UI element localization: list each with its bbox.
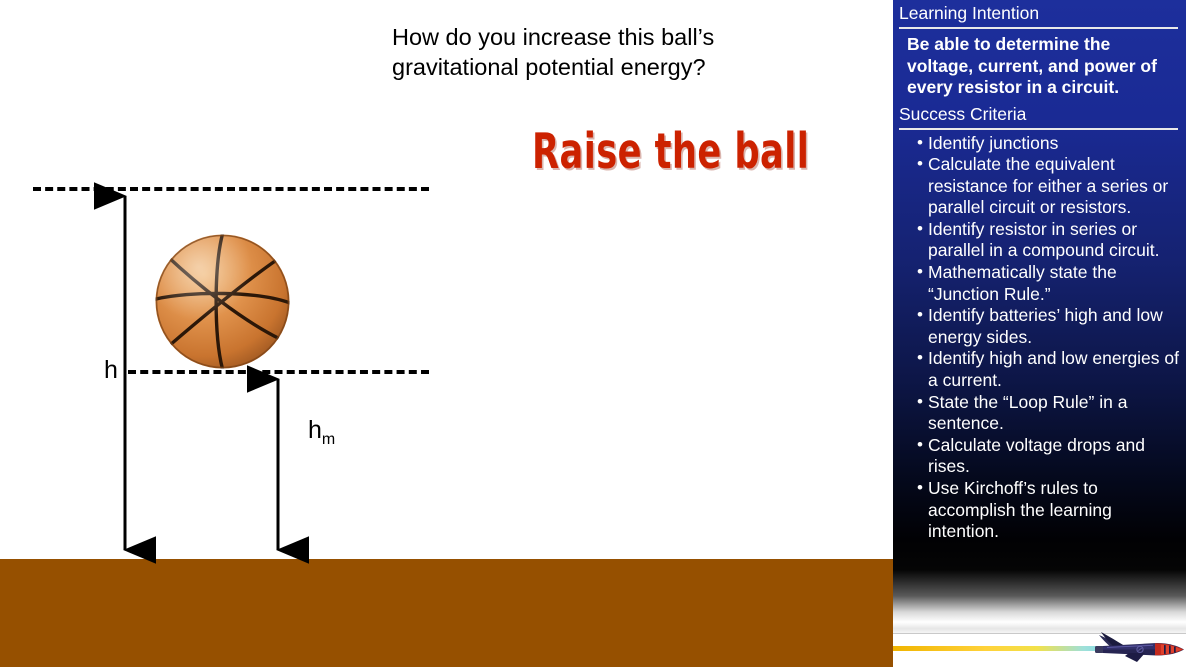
footer-decoration [893, 622, 1186, 667]
ground-surface-sliver [886, 559, 893, 667]
height-label-hm-subscript: m [322, 431, 335, 448]
list-item: Mathematically state the “Junction Rule.… [919, 262, 1180, 305]
dashed-line-middle [128, 370, 429, 374]
divider-learning-intention [899, 27, 1178, 29]
list-item: Identify junctions [919, 133, 1180, 155]
success-criteria-list: Identify junctions Calculate the equival… [893, 133, 1186, 543]
ground-surface [0, 559, 886, 667]
height-label-hm: hm [308, 418, 335, 452]
height-label-h: h [104, 358, 118, 383]
learning-intention-heading: Learning Intention [893, 0, 1186, 26]
dashed-line-top [33, 187, 429, 191]
list-item: Calculate the equivalent resistance for … [919, 154, 1180, 219]
divider-success-criteria [899, 128, 1178, 130]
success-criteria-heading: Success Criteria [893, 99, 1186, 127]
answer-headline: Raise the ball [532, 123, 809, 180]
learning-panel: Learning Intention Be able to determine … [893, 0, 1186, 622]
learning-intention-text: Be able to determine the voltage, curren… [893, 32, 1186, 99]
list-item: State the “Loop Rule” in a sentence. [919, 392, 1180, 435]
basketball-icon [154, 233, 291, 370]
list-item: Calculate voltage drops and rises. [919, 435, 1180, 478]
list-item: Identify resistor in series or parallel … [919, 219, 1180, 262]
slide-canvas: How do you increase this ball’s gravitat… [0, 0, 886, 667]
list-item: Identify high and low energies of a curr… [919, 348, 1180, 391]
jet-rocket-icon [1085, 629, 1186, 667]
question-text: How do you increase this ball’s gravitat… [392, 22, 862, 82]
list-item: Use Kirchoff’s rules to accomplish the l… [919, 478, 1180, 543]
height-label-hm-base: h [308, 416, 322, 444]
list-item: Identify batteries’ high and low energy … [919, 305, 1180, 348]
sidebar-panel: Learning Intention Be able to determine … [886, 0, 1186, 667]
